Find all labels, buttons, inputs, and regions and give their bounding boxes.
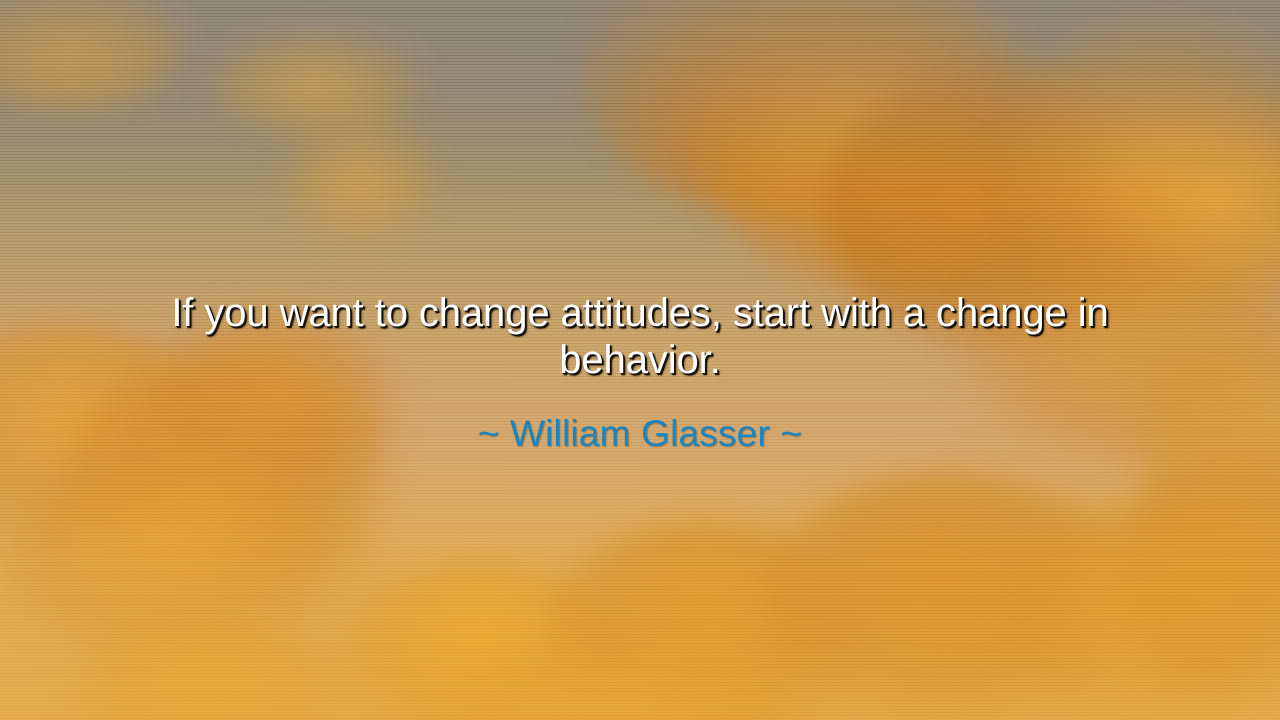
sky-bottom-haze bbox=[0, 470, 1280, 720]
quote-image-canvas: If you want to change attitudes, start w… bbox=[0, 0, 1280, 720]
sky-top-haze bbox=[0, 0, 1280, 190]
quote-text: If you want to change attitudes, start w… bbox=[150, 290, 1130, 384]
quote-block: If you want to change attitudes, start w… bbox=[150, 290, 1130, 455]
quote-attribution: ~ William Glasser ~ bbox=[150, 384, 1130, 455]
